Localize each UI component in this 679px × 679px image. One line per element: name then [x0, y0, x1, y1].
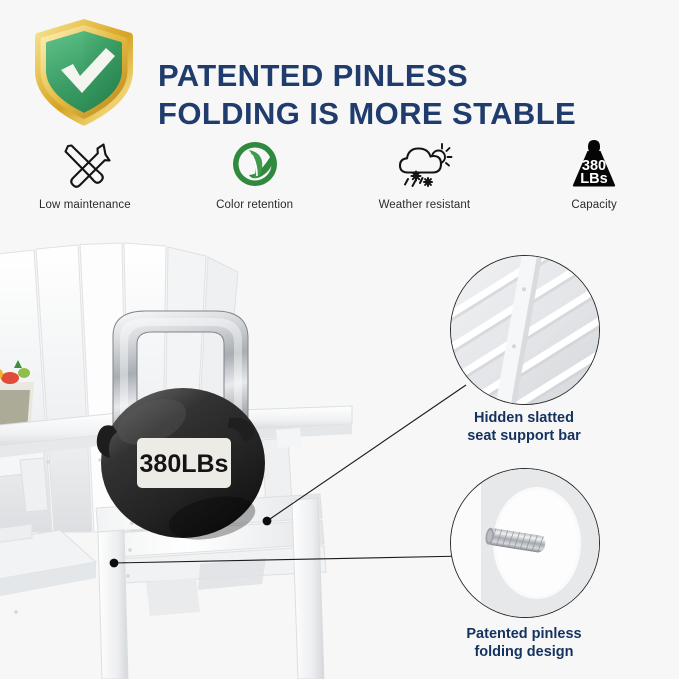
leaf-circle-icon [229, 138, 281, 190]
feature-label: Weather resistant [379, 199, 471, 211]
caption-line-1: Hidden slatted [424, 410, 624, 428]
headline-line-1: PATENTED PINLESS [158, 58, 468, 93]
weight-capacity-icon: 380 LBs [567, 138, 621, 190]
feature-capacity: 380 LBs Capacity [509, 138, 679, 211]
header-band: PATENTED PINLESS FOLDING IS MORE STABLE [0, 0, 679, 135]
callout-caption: Patented pinless folding design [424, 626, 624, 661]
cloud-rain-sun-icon [395, 138, 453, 190]
feature-low-maintenance: Low maintenance [0, 138, 170, 211]
pinless-folding-bolt-closeup [450, 468, 600, 618]
caption-line-2: seat support bar [424, 428, 624, 446]
wrench-screwdriver-icon [59, 138, 111, 190]
chair-rear-stretcher [0, 524, 96, 614]
feature-label: Low maintenance [39, 199, 131, 211]
product-infographic: PATENTED PINLESS FOLDING IS MORE STABLE … [0, 0, 679, 679]
caption-line-2: folding design [424, 644, 624, 662]
headline-line-2: FOLDING IS MORE STABLE [158, 95, 668, 133]
slatted-seat-support-closeup [450, 255, 600, 405]
callout-caption: Hidden slatted seat support bar [424, 410, 624, 445]
kettlebell-label: 380LBs [140, 450, 229, 478]
feature-color-retention: Color retention [170, 138, 340, 211]
feature-weather-resistant: Weather resistant [340, 138, 510, 211]
feature-label: Color retention [216, 199, 293, 211]
capacity-badge-unit: LBs [580, 171, 607, 187]
page-title: PATENTED PINLESS FOLDING IS MORE STABLE [158, 57, 668, 133]
caption-line-1: Patented pinless [424, 626, 624, 644]
feature-icon-row: Low maintenance Color retention [0, 138, 679, 228]
shield-check-icon [26, 14, 142, 130]
feature-label: Capacity [571, 199, 617, 211]
